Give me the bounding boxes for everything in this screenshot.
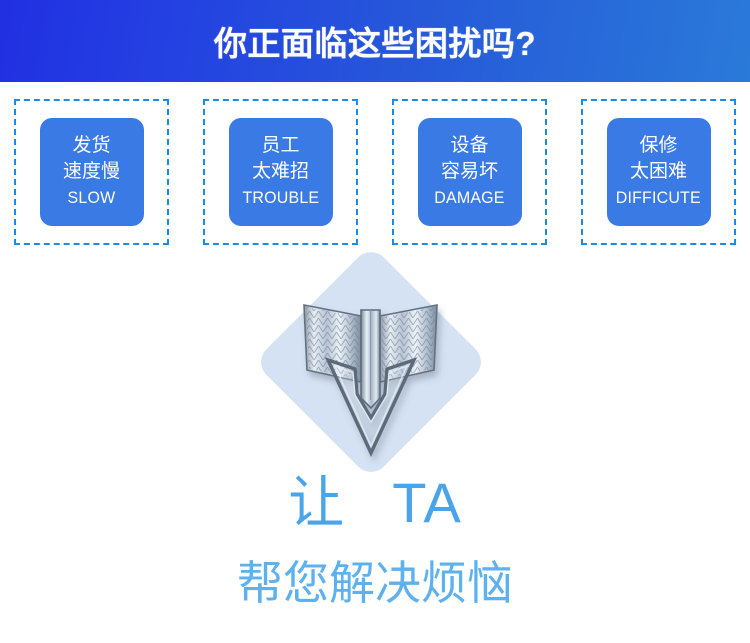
tagline-cn: 让 bbox=[288, 473, 344, 533]
hero-graphic bbox=[260, 248, 482, 476]
problem-card-row: 发货 速度慢 SLOW 员工 太难招 TROUBLE 设备 容易坏 DAMAGE… bbox=[0, 99, 750, 249]
tagline-row: 让 TA bbox=[0, 466, 750, 540]
problem-card-tile: 发货 速度慢 SLOW bbox=[40, 118, 144, 226]
problem-card-tile: 员工 太难招 TROUBLE bbox=[229, 118, 333, 226]
problem-card-line2: 速度慢 bbox=[63, 159, 120, 185]
problem-card-english: TROUBLE bbox=[242, 185, 319, 210]
problem-card-tile: 保修 太困难 DIFFICUTE bbox=[607, 118, 711, 226]
problem-card-line1: 员工 bbox=[261, 133, 299, 159]
problem-card-english: DIFFICUTE bbox=[616, 185, 701, 210]
problem-card-line1: 设备 bbox=[450, 133, 488, 159]
problem-card-slow[interactable]: 发货 速度慢 SLOW bbox=[14, 99, 169, 245]
problem-card-difficult[interactable]: 保修 太困难 DIFFICUTE bbox=[581, 99, 736, 245]
problem-card-english: SLOW bbox=[68, 185, 116, 210]
problem-card-trouble[interactable]: 员工 太难招 TROUBLE bbox=[203, 99, 358, 245]
header-banner: 你正面临这些困扰吗? bbox=[0, 0, 750, 82]
tagline-en: TA bbox=[392, 473, 461, 533]
problem-card-damage[interactable]: 设备 容易坏 DAMAGE bbox=[392, 99, 547, 245]
problem-card-line2: 容易坏 bbox=[441, 159, 498, 185]
problem-card-tile: 设备 容易坏 DAMAGE bbox=[418, 118, 522, 226]
problem-card-line2: 太困难 bbox=[630, 159, 687, 185]
problem-card-line1: 发货 bbox=[72, 133, 110, 159]
problem-card-line2: 太难招 bbox=[252, 159, 309, 185]
subtagline: 帮您解决烦恼 bbox=[0, 548, 750, 618]
down-arrow-dart-icon bbox=[260, 248, 482, 476]
page-title: 你正面临这些困扰吗? bbox=[0, 0, 750, 82]
problem-card-line1: 保修 bbox=[639, 133, 677, 159]
problem-card-english: DAMAGE bbox=[434, 185, 504, 210]
